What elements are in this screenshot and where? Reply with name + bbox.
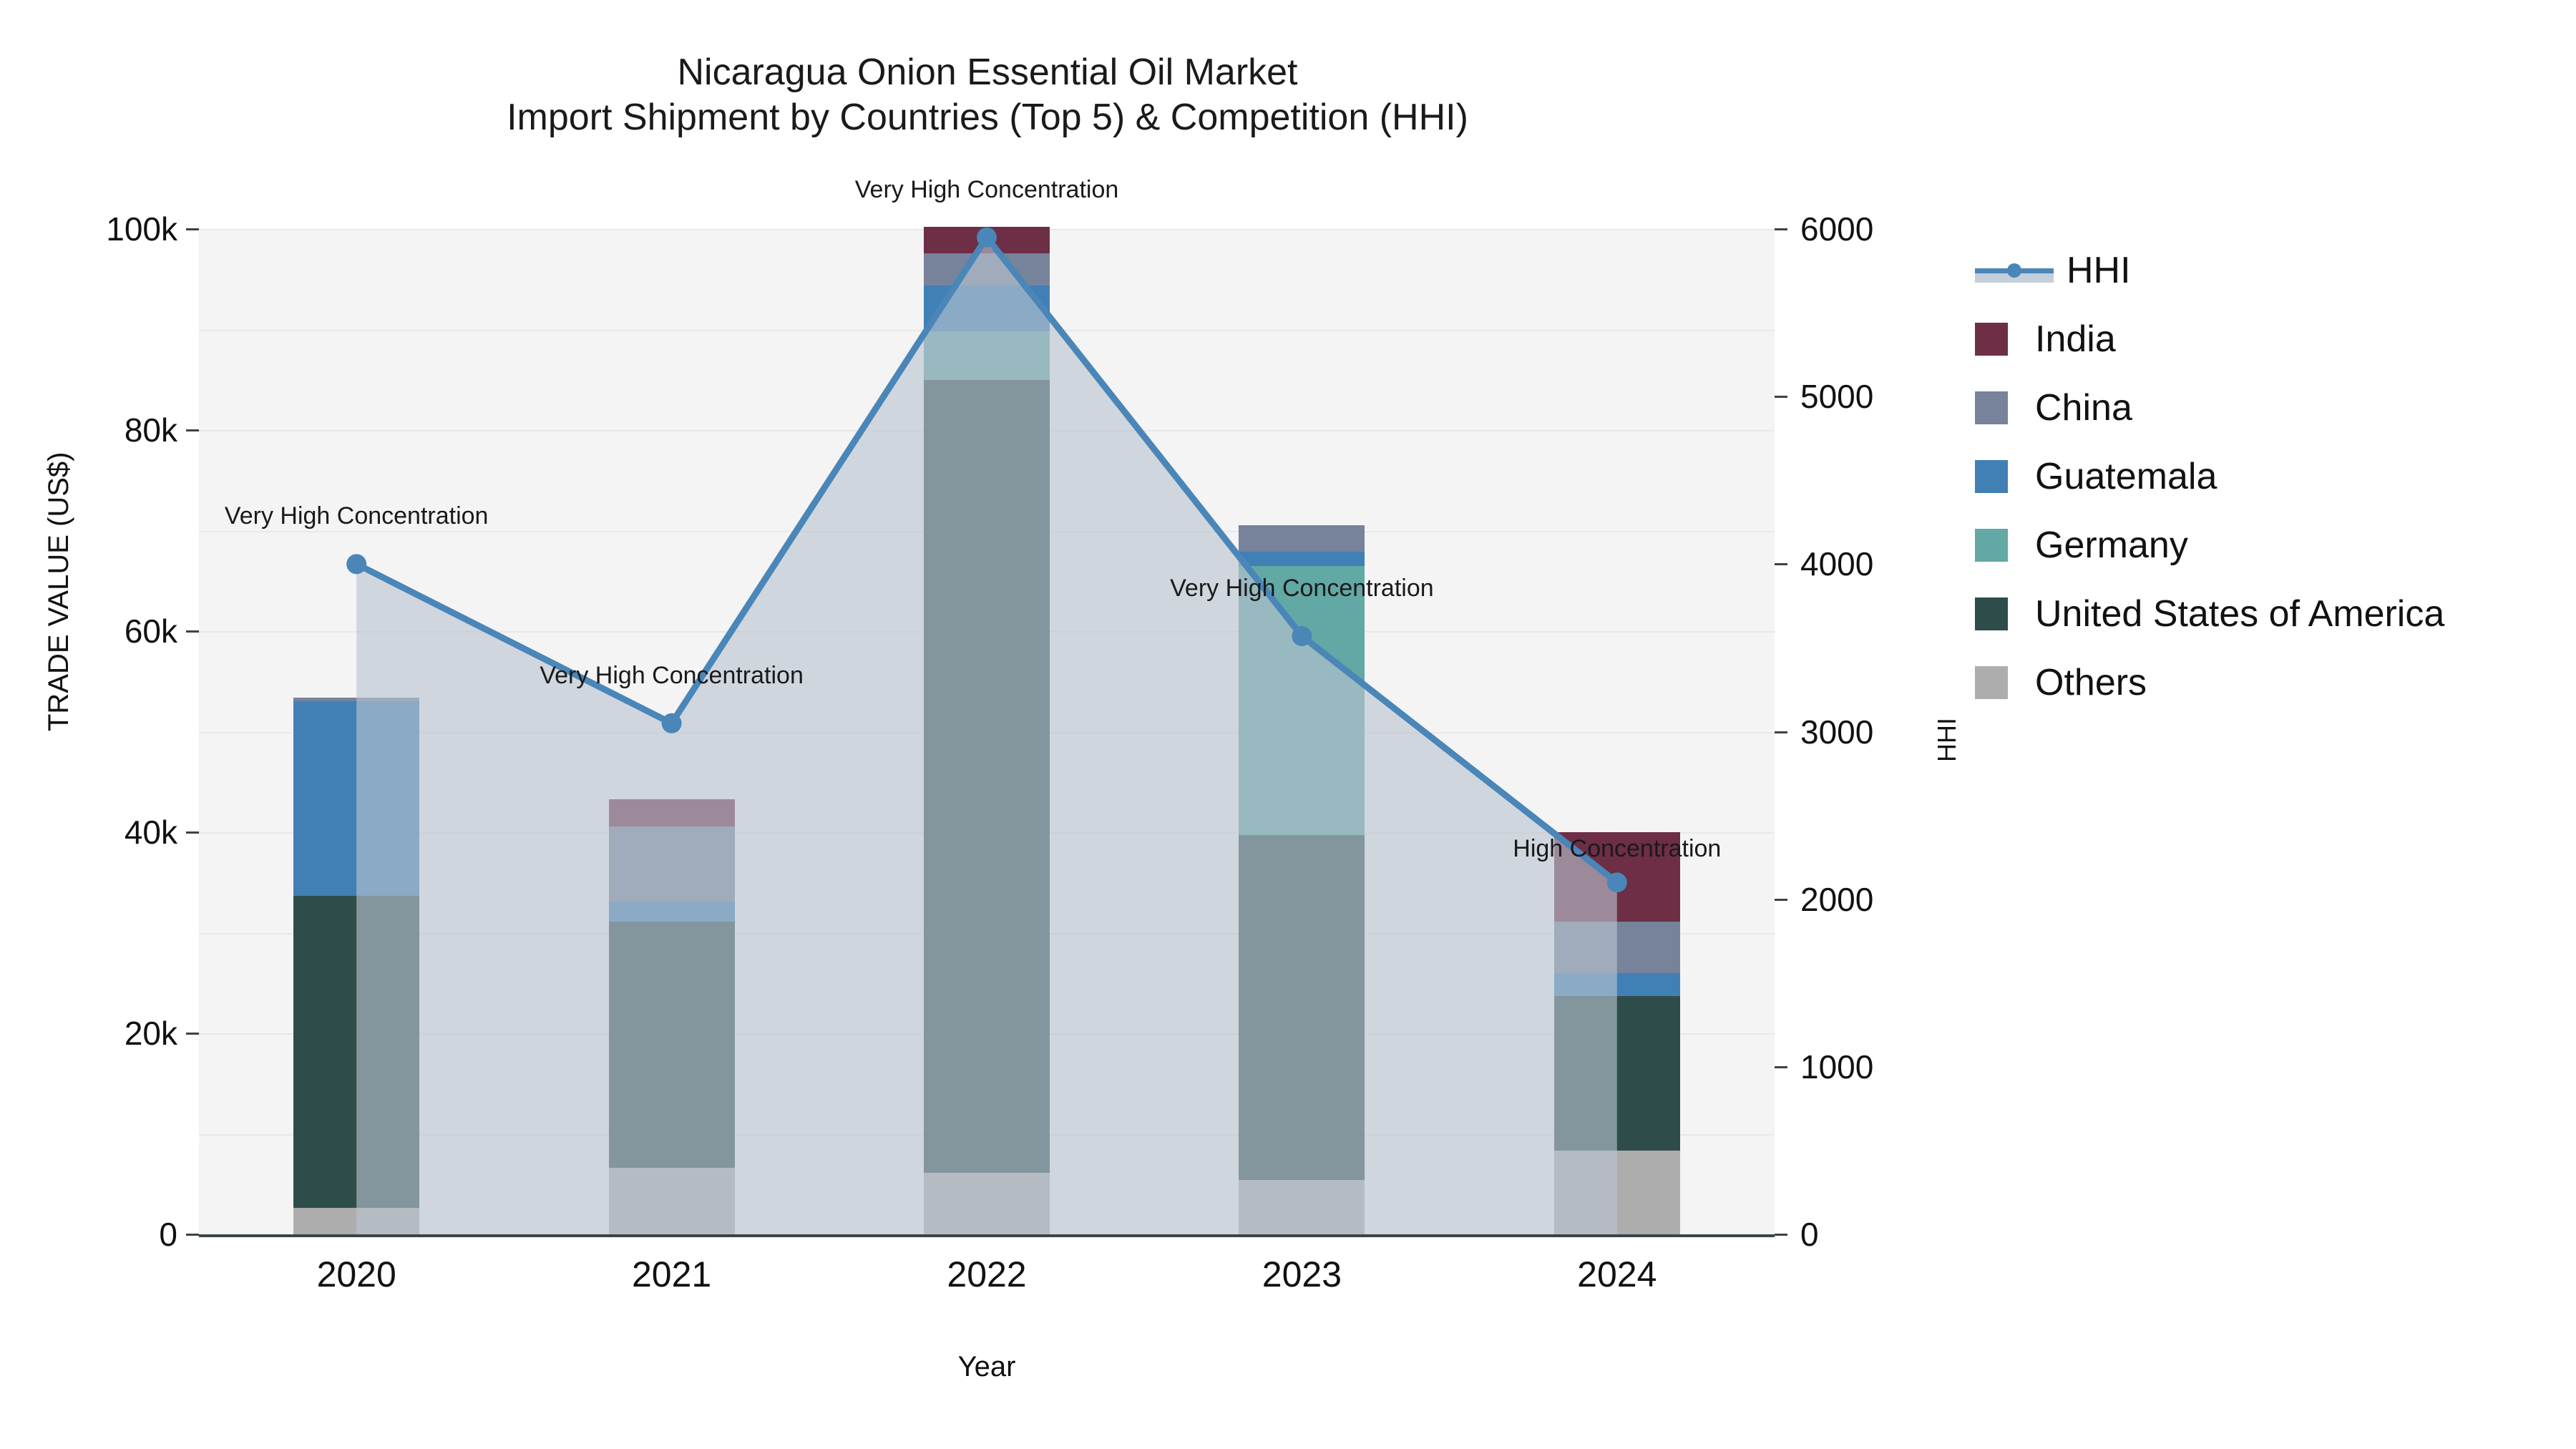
legend-item[interactable]: India [1975,305,2444,374]
y-axis-left-tick-mark [186,831,199,834]
legend-item-label: Guatemala [2035,455,2217,498]
legend-swatch-icon [1975,597,2008,630]
x-axis-tick-label: 2021 [632,1254,711,1295]
y-axis-right-label: HHI [1932,718,1961,762]
y-axis-right-tick-label: 3000 [1800,713,1873,751]
legend-item[interactable]: Guatemala [1975,442,2444,511]
y-axis-right-tick-label: 5000 [1800,377,1873,416]
legend-swatch-icon [1975,323,2008,356]
hhi-point[interactable] [1292,626,1312,646]
chart-title-line-2: Import Shipment by Countries (Top 5) & C… [0,95,1975,140]
y-axis-right-tick-mark [1775,1066,1787,1068]
hhi-line-overlay [199,229,1775,1234]
concentration-annotation: Very High Concentration [225,502,489,530]
legend-item-label: United States of America [2035,592,2444,635]
y-axis-right-tick-mark [1775,731,1787,733]
legend-item-label: China [2035,386,2132,429]
legend-swatch-icon [1975,391,2008,424]
x-axis-label: Year [199,1351,1775,1383]
y-axis-left-label: TRADE VALUE (US$) [43,452,74,731]
concentration-annotation: High Concentration [1513,835,1721,863]
concentration-annotation: Very High Concentration [1170,575,1434,602]
legend-swatch-icon [1975,460,2008,493]
hhi-point[interactable] [977,228,997,248]
y-axis-right-tick-mark [1775,1234,1787,1236]
y-axis-right-tick-mark [1775,228,1787,230]
legend-item[interactable]: United States of America [1975,580,2444,648]
y-axis-right-tick-mark [1775,899,1787,901]
y-axis-right-tick-label: 2000 [1800,880,1873,919]
x-axis-tick-label: 2023 [1262,1254,1342,1295]
y-axis-left-tick-mark [186,630,199,633]
y-axis-right-tick-mark [1775,396,1787,398]
x-axis-tick-label: 2024 [1577,1254,1657,1295]
hhi-point[interactable] [346,554,366,574]
legend: HHIIndiaChinaGuatemalaGermanyUnited Stat… [1975,236,2444,717]
y-axis-left-tick-label: 20k [125,1014,177,1053]
legend-swatch-icon [1975,529,2008,562]
concentration-annotation: Very High Concentration [855,176,1119,204]
legend-item[interactable]: HHI [1975,236,2444,305]
y-axis-right-tick-label: 4000 [1800,545,1873,583]
y-axis-left-tick-label: 60k [125,612,177,650]
y-axis-left-tick-mark [186,1033,199,1035]
y-axis-left-tick-label: 40k [125,813,177,852]
legend-item[interactable]: Germany [1975,511,2444,580]
chart-root: Nicaragua Onion Essential Oil Market Imp… [0,0,2576,1449]
chart-title: Nicaragua Onion Essential Oil Market Imp… [0,50,1975,141]
y-axis-left-tick-mark [186,1234,199,1236]
legend-item-label: India [2035,318,2116,361]
legend-swatch-icon [1975,666,2008,699]
y-axis-right-tick-label: 0 [1800,1215,1819,1254]
legend-item-label: Germany [2035,524,2188,567]
x-axis-spine [199,1234,1775,1237]
legend-line-marker-icon [1975,254,2054,287]
y-axis-left-tick-mark [186,429,199,431]
y-axis-left-tick-label: 0 [159,1215,177,1254]
x-axis-tick-label: 2022 [947,1254,1026,1295]
y-axis-right-tick-label: 6000 [1800,210,1873,248]
hhi-point[interactable] [1607,872,1627,892]
y-axis-right-tick-mark [1775,563,1787,565]
y-axis-left-tick-label: 80k [125,411,177,449]
y-axis-left-tick-label: 100k [106,210,177,248]
legend-item[interactable]: China [1975,374,2444,442]
chart-title-line-1: Nicaragua Onion Essential Oil Market [0,50,1975,95]
legend-item-label: Others [2035,661,2147,704]
legend-item[interactable]: Others [1975,648,2444,717]
hhi-point[interactable] [662,713,682,733]
y-axis-right-tick-label: 1000 [1800,1048,1873,1086]
legend-item-label: HHI [2067,249,2131,292]
x-axis-tick-label: 2020 [317,1254,396,1295]
concentration-annotation: Very High Concentration [540,662,804,690]
y-axis-left-tick-mark [186,228,199,230]
